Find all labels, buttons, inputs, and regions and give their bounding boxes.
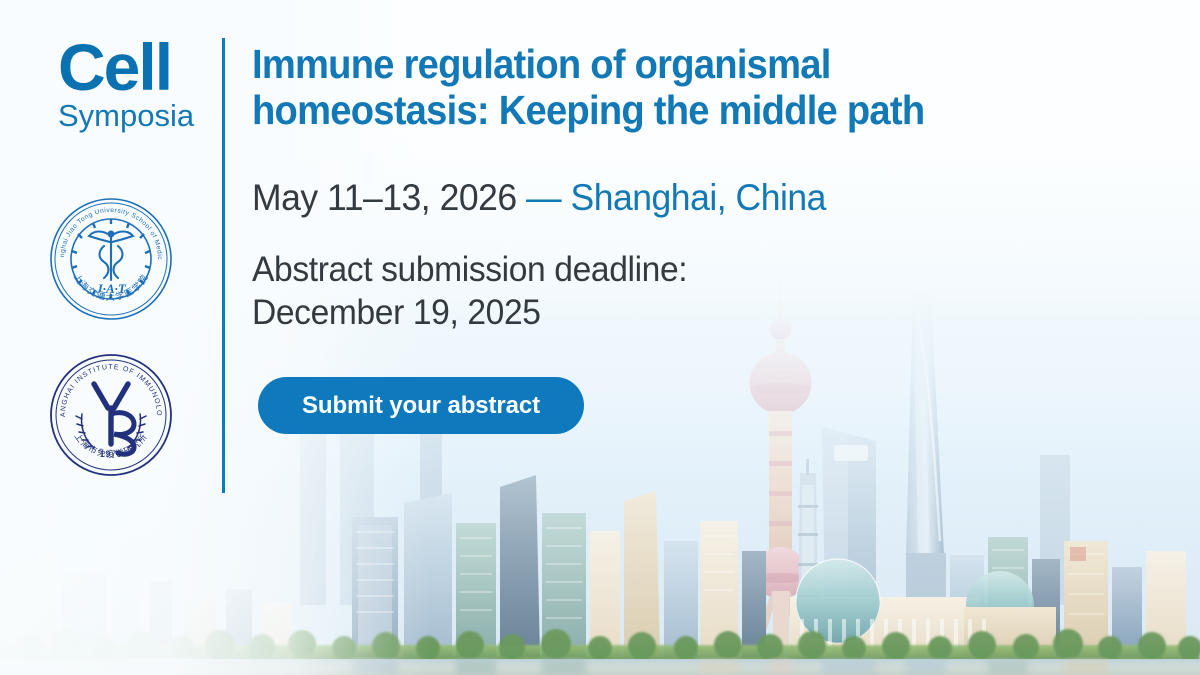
event-location: Shanghai, China	[570, 177, 825, 218]
page-title: Immune regulation of organismal homeosta…	[252, 42, 1015, 134]
deadline-date: December 19, 2025	[252, 291, 687, 334]
cell-symposia-logo: Cell Symposia	[58, 36, 208, 133]
title-line-2: homeostasis: Keeping the middle path	[252, 87, 924, 133]
logo-column: Cell Symposia	[0, 0, 224, 675]
symposia-wordmark: Symposia	[58, 100, 208, 133]
vertical-divider	[222, 38, 225, 493]
sjtu-school-of-medicine-seal-icon: J·A·T Shanghai Jiao Tong University Scho…	[48, 196, 174, 322]
title-line-1: Immune regulation of organismal	[252, 41, 831, 87]
dateline-separator: —	[526, 177, 561, 218]
event-details: Immune regulation of organismal homeosta…	[252, 0, 1152, 675]
cell-wordmark: Cell	[58, 36, 208, 99]
abstract-deadline: Abstract submission deadline: December 1…	[252, 248, 687, 335]
event-dateline: May 11–13, 2026 — Shanghai, China	[252, 178, 826, 219]
event-dates: May 11–13, 2026	[252, 177, 517, 218]
submit-abstract-button[interactable]: Submit your abstract	[258, 377, 584, 434]
deadline-label: Abstract submission deadline:	[252, 250, 687, 289]
svg-text:Shanghai Jiao Tong University: Shanghai Jiao Tong University School of …	[48, 196, 163, 260]
shanghai-institute-of-immunology-seal-icon: 1979 SHANGHAI INSTITUTE OF IMMUNOLOGY 上海…	[48, 352, 174, 478]
conference-banner: Cell Symposia	[0, 0, 1200, 675]
